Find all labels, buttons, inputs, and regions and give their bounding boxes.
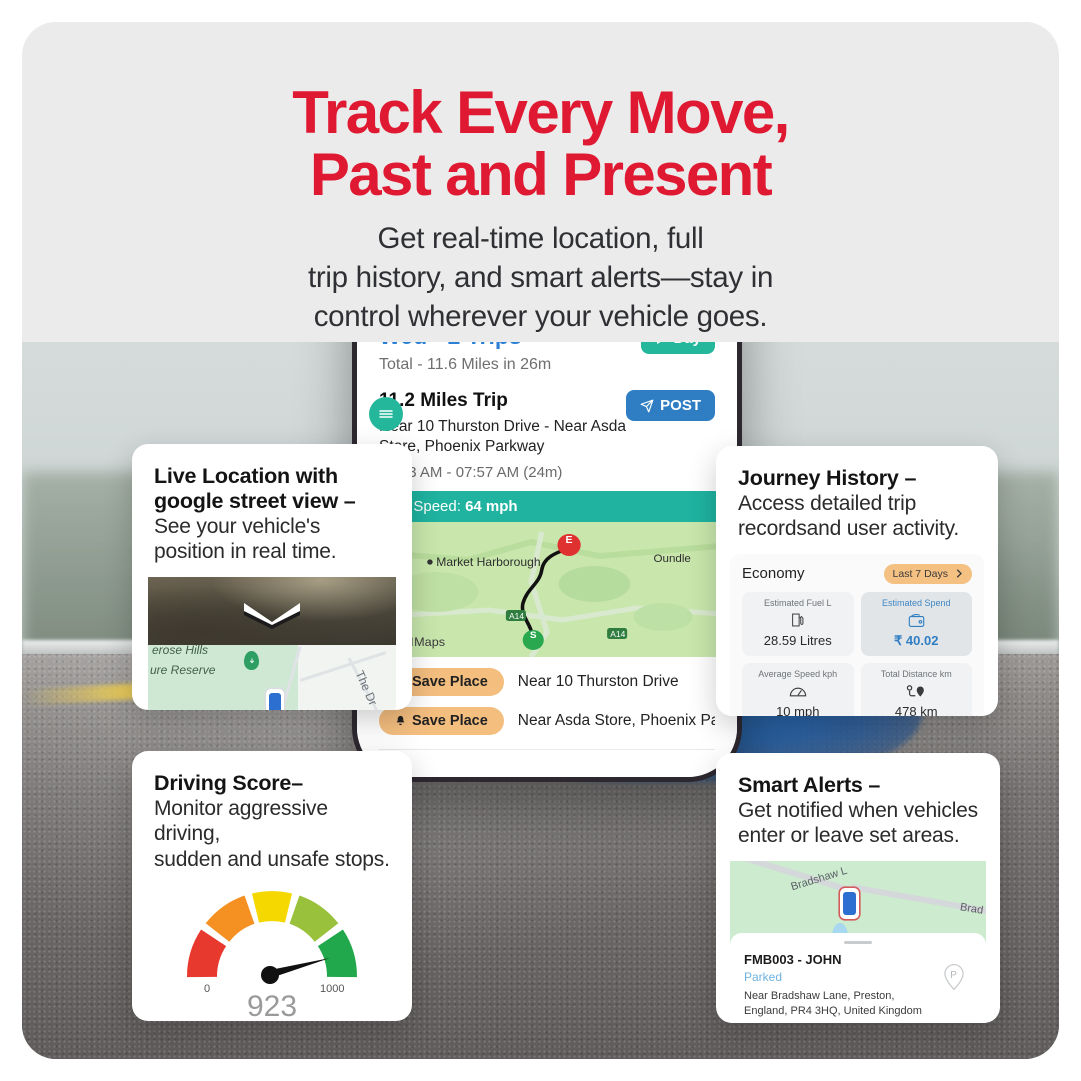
vehicle-detail-sheet: FMB003 - JOHN Parked Near Bradshaw Lane,… (730, 933, 986, 1023)
economy-cell-distance[interactable]: Total Distance km 478 km (861, 663, 973, 716)
vehicle-address-line-2: England, PR4 3HQ, United Kingdom (744, 1004, 972, 1019)
feature-card-smart-alerts: Smart Alerts – Get notified when vehicle… (716, 753, 1000, 1023)
alerts-card-heading: Smart Alerts – (738, 773, 978, 798)
economy-cell-value: 478 km (865, 704, 969, 716)
parking-pin-icon: P (940, 963, 968, 991)
live-card-body-line-1: See your vehicle's (154, 514, 390, 539)
gauge-graphic: 0 1000 (182, 882, 362, 994)
trip-card[interactable]: 11.2 Miles Trip Near 10 Thurston Drive -… (373, 390, 721, 750)
live-card-text: Live Location with google street view – … (132, 444, 412, 565)
mini-map-label-1: erose Hills (152, 645, 208, 657)
wallet-icon (865, 611, 969, 630)
save-place-address: Near 10 Thurston Drive (518, 673, 679, 691)
sheet-grabber[interactable] (844, 941, 872, 944)
svg-text:S: S (530, 630, 537, 641)
economy-range-selector[interactable]: Last 7 Days (884, 564, 972, 584)
economy-cell-label: Average Speed kph (746, 669, 850, 679)
save-place-row: Save Place Near 10 Thurston Drive (379, 668, 715, 696)
trip-list-badge-icon[interactable] (369, 397, 403, 431)
economy-cell-value: 28.59 Litres (746, 633, 850, 648)
mini-map-label-3: The Dr (352, 668, 380, 707)
svg-text:Oundle: Oundle (654, 553, 691, 565)
geofence-map[interactable]: Bradshaw L Brad (730, 861, 986, 943)
trip-card-header: 11.2 Miles Trip Near 10 Thurston Drive -… (373, 390, 721, 481)
trip-time: 07:33 AM - 07:57 AM (24m) (379, 464, 626, 481)
alerts-card-body-line-2: enter or leave set areas. (738, 823, 978, 848)
top-speed-bar: Top Speed: 64 mph (373, 491, 721, 522)
subtitle-line-3: control wherever your vehicle goes. (22, 298, 1059, 337)
feature-card-live-location: Live Location with google street view – … (132, 444, 412, 710)
journey-card-body-line-1: Access detailed trip (738, 491, 976, 516)
journey-card-text: Journey History – Access detailed trip r… (716, 446, 998, 542)
live-card-heading-line-1: Live Location with (154, 464, 390, 489)
svg-text:A14: A14 (509, 612, 524, 621)
mini-map-road-2 (300, 651, 387, 682)
live-card-body-line-2: position in real time. (154, 539, 390, 564)
trip-card-text: 11.2 Miles Trip Near 10 Thurston Drive -… (379, 390, 626, 481)
subtitle-line-2: trip history, and smart alerts—stay in (22, 259, 1059, 298)
post-button-label: POST (660, 397, 701, 414)
score-card-body-line-1: Monitor aggressive driving, (154, 796, 390, 846)
live-mini-map[interactable]: erose Hills ure Reserve The Dr (148, 645, 396, 710)
trip-route: Near 10 Thurston Drive - Near Asda Store… (379, 417, 626, 457)
economy-widget: Economy Last 7 Days Estimated Fuel L 28.… (730, 554, 984, 716)
trip-title: 11.2 Miles Trip (379, 390, 626, 412)
fuel-pump-icon (746, 611, 850, 630)
score-card-text: Driving Score– Monitor aggressive drivin… (132, 751, 412, 872)
economy-cell-spend[interactable]: Estimated Spend ₹ 40.02 (861, 592, 973, 656)
alerts-card-text: Smart Alerts – Get notified when vehicle… (716, 753, 1000, 849)
score-card-heading: Driving Score– (154, 771, 390, 796)
economy-cell-label: Estimated Spend (865, 598, 969, 608)
page-title: Track Every Move, Past and Present (22, 82, 1059, 206)
chevron-right-icon (956, 569, 963, 578)
feature-card-driving-score: Driving Score– Monitor aggressive drivin… (132, 751, 412, 1021)
economy-cell-label: Total Distance km (865, 669, 969, 679)
headline-line-2: Past and Present (22, 144, 1059, 206)
score-card-body-line-2: sudden and unsafe stops. (154, 847, 390, 872)
economy-title: Economy (742, 565, 805, 582)
post-button[interactable]: POST (626, 390, 715, 421)
save-place-row: Save Place Near Asda Store, Phoenix Par.… (379, 707, 715, 735)
driving-score-value: 923 (132, 990, 412, 1021)
journey-card-body-line-2: recordsand user activity. (738, 516, 976, 541)
journey-card-heading: Journey History – (738, 466, 976, 491)
save-place-label: Save Place (412, 713, 488, 729)
svg-text:E: E (565, 535, 572, 546)
economy-cell-label: Estimated Fuel L (746, 598, 850, 608)
mini-map-label-2: ure Reserve (150, 663, 215, 677)
page-subtitle: Get real-time location, full trip histor… (22, 220, 1059, 337)
trip-divider (379, 749, 715, 750)
headline-line-1: Track Every Move, (22, 82, 1059, 144)
gauge-min-label: 0 (204, 983, 210, 994)
hero-block: Track Every Move, Past and Present Get r… (22, 22, 1059, 342)
economy-metrics-grid: Estimated Fuel L 28.59 Litres Estimated … (742, 592, 972, 716)
speedometer-icon (746, 682, 850, 701)
route-pin-icon (865, 682, 969, 701)
day-total: Total - 11.6 Miles in 26m (379, 356, 551, 374)
live-card-heading-line-2: google street view – (154, 489, 390, 514)
economy-cell-value: ₹ 40.02 (865, 633, 969, 649)
economy-cell-fuel[interactable]: Estimated Fuel L 28.59 Litres (742, 592, 854, 656)
alerts-card-body-line-1: Get notified when vehicles (738, 798, 978, 823)
poster-canvas: Track Every Move, Past and Present Get r… (0, 0, 1081, 1081)
trip-map-graphics: Market Harborough Oundle A14 A14 E (373, 522, 721, 657)
bell-icon (395, 715, 406, 726)
economy-range-label: Last 7 Days (893, 568, 948, 580)
save-place-button[interactable]: Save Place (379, 707, 504, 735)
subtitle-line-1: Get real-time location, full (22, 220, 1059, 259)
feature-card-journey-history: Journey History – Access detailed trip r… (716, 446, 998, 716)
economy-header: Economy Last 7 Days (742, 564, 972, 584)
street-view-chevron-icon (242, 603, 302, 629)
svg-text:P: P (950, 969, 957, 980)
vehicle-address-line-1: Near Bradshaw Lane, Preston, (744, 989, 972, 1004)
geofence-label-2: Brad (959, 901, 984, 916)
gauge-max-label: 1000 (320, 983, 344, 994)
poster-panel: Track Every Move, Past and Present Get r… (22, 22, 1059, 1059)
park-marker-icon[interactable] (244, 651, 259, 670)
svg-text:A14: A14 (610, 630, 625, 639)
vehicle-marker-icon[interactable] (266, 689, 284, 710)
svg-text:Market Harborough: Market Harborough (436, 555, 540, 569)
status-badge: Parked (744, 970, 972, 984)
economy-cell-avg-speed[interactable]: Average Speed kph 10 mph (742, 663, 854, 716)
driving-score-gauge: 0 1000 (148, 882, 396, 994)
street-view-thumbnail[interactable] (148, 577, 396, 645)
send-icon (640, 399, 654, 413)
economy-cell-value: 10 mph (746, 704, 850, 716)
save-place-address: Near Asda Store, Phoenix Par.. (518, 712, 715, 730)
vehicle-marker-icon[interactable] (840, 888, 859, 919)
trip-route-map[interactable]: Market Harborough Oundle A14 A14 E (373, 522, 721, 657)
top-speed-value: 64 mph (465, 498, 518, 515)
save-place-label: Save Place (412, 674, 488, 690)
vehicle-name: FMB003 - JOHN (744, 952, 972, 967)
